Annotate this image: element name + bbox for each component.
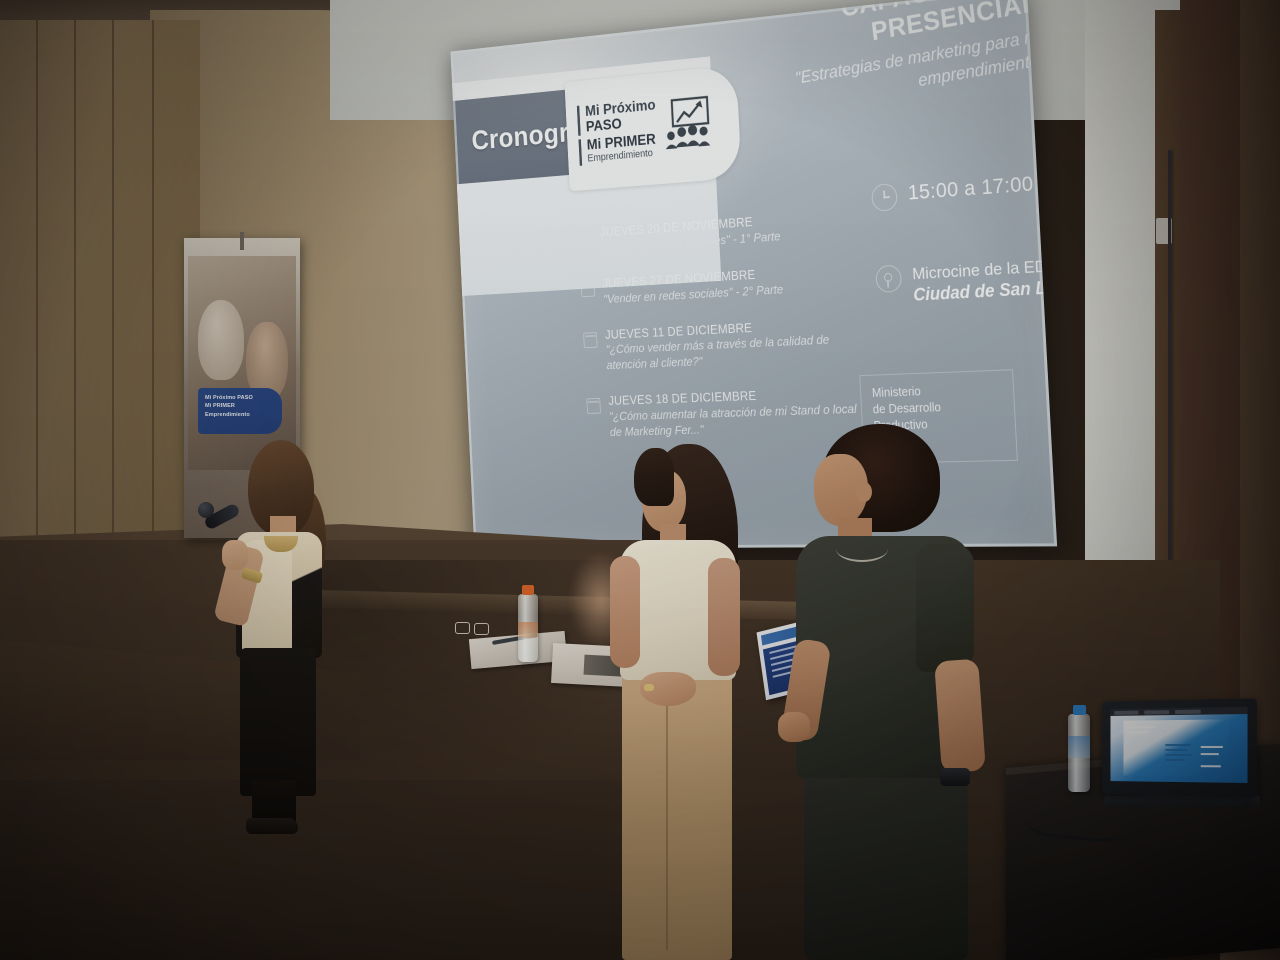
hair-front <box>634 448 674 506</box>
eyeglasses <box>455 622 489 634</box>
banner-photo <box>188 256 296 470</box>
banner-logo: Mi Próximo PASO Mi PRIMER Emprendimiento <box>198 388 282 434</box>
browser-tab-bar[interactable] <box>1110 707 1247 716</box>
wood-panel-wall <box>0 20 200 580</box>
sandal <box>246 818 298 834</box>
speaker-with-microphone <box>206 440 336 840</box>
banner-logo-line-2: Mi PRIMER <box>205 402 275 410</box>
ring <box>644 684 654 691</box>
auditorium-presentation-photo: Cronograma Mi Próximo PASO Mi <box>0 0 1280 960</box>
ear <box>856 482 872 502</box>
bottle-cap <box>1073 705 1086 715</box>
right-arm <box>708 558 740 676</box>
trouser-pleat <box>666 680 668 950</box>
left-arm <box>610 556 640 668</box>
presentation-editor-canvas[interactable] <box>1123 719 1229 776</box>
dark-trousers <box>804 772 968 960</box>
laptop-lid <box>1102 698 1257 797</box>
presenter-woman <box>604 444 784 960</box>
hand <box>222 540 248 570</box>
laptop-screen[interactable] <box>1110 707 1247 783</box>
banner-logo-line-1: Mi Próximo PASO <box>205 394 275 402</box>
bottle-label <box>1068 736 1090 758</box>
banner-logo-line-3: Emprendimiento <box>205 411 275 419</box>
wristwatch <box>940 768 970 786</box>
laptop[interactable] <box>1098 700 1260 812</box>
tan-trousers <box>622 670 732 960</box>
banner-person-1 <box>198 300 244 380</box>
water-bottle <box>1068 714 1090 792</box>
banner-pole <box>240 232 244 250</box>
necklace-chain <box>836 536 888 562</box>
sleeve <box>916 544 974 672</box>
water-bottle <box>518 594 538 662</box>
microphone-head <box>198 502 214 518</box>
bottle-cap <box>522 585 534 595</box>
bottle-label <box>518 622 538 638</box>
left-hand <box>778 712 810 742</box>
right-arm <box>934 659 986 774</box>
presenter-man <box>790 424 1025 960</box>
skirt <box>240 648 316 796</box>
